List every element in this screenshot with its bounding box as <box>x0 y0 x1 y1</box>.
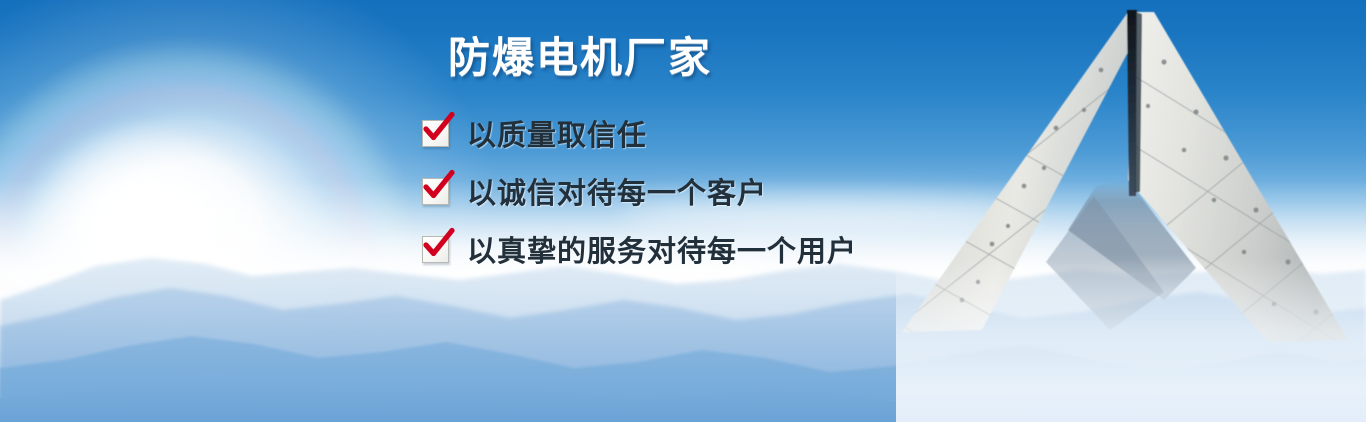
list-item: 以质量取信任 <box>422 104 857 162</box>
list-item: 以真挚的服务对待每一个用户 <box>422 220 857 278</box>
cloud-streak <box>940 300 1320 340</box>
feature-text: 以质量取信任 <box>467 112 647 154</box>
feature-text: 以诚信对待每一个客户 <box>467 170 767 212</box>
red-check-icon <box>422 178 449 205</box>
feature-list: 以质量取信任 以诚信对待每一个客户 以真挚的服务对待每一个用户 <box>422 104 857 278</box>
promo-banner: 防爆电机厂家 以质量取信任 以诚信对待每一个客户 <box>0 0 1366 422</box>
page-title: 防爆电机厂家 <box>448 24 712 85</box>
feature-text: 以真挚的服务对待每一个用户 <box>467 228 857 270</box>
banner-content: 防爆电机厂家 以质量取信任 以诚信对待每一个客户 <box>0 0 960 422</box>
concrete-monument <box>896 0 1366 422</box>
red-check-icon <box>422 236 449 263</box>
red-check-icon <box>422 120 449 147</box>
list-item: 以诚信对待每一个客户 <box>422 162 857 220</box>
